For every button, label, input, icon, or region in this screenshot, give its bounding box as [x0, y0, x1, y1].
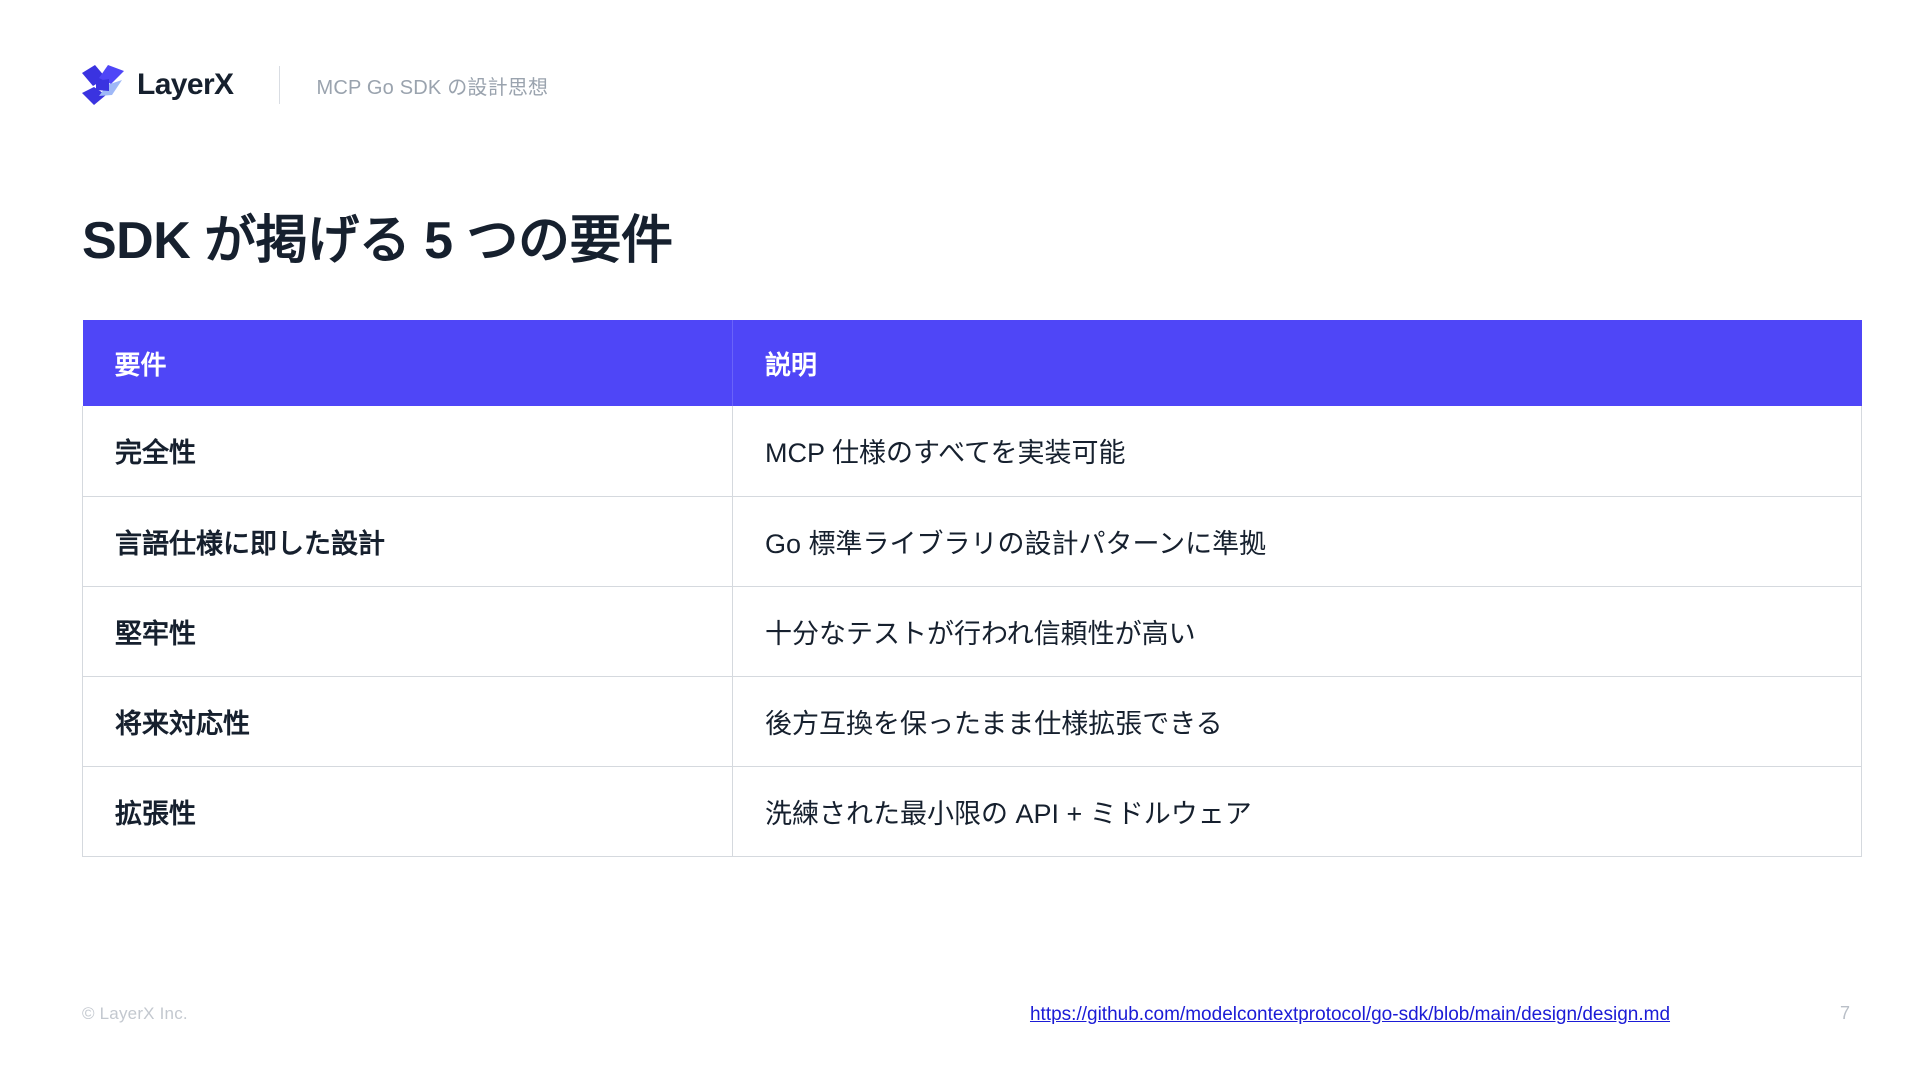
table-row: 将来対応性 後方互換を保ったまま仕様拡張できる — [83, 676, 1862, 766]
requirements-table: 要件 説明 完全性 MCP 仕様のすべてを実装可能 言語仕様に即した設計 Go … — [82, 320, 1862, 857]
requirements-table-wrapper: 要件 説明 完全性 MCP 仕様のすべてを実装可能 言語仕様に即した設計 Go … — [82, 320, 1862, 857]
table-header-row: 要件 説明 — [83, 320, 1862, 406]
cell-description: MCP 仕様のすべてを実装可能 — [733, 406, 1862, 496]
footer-copyright: © LayerX Inc. — [82, 1004, 188, 1024]
table-row: 言語仕様に即した設計 Go 標準ライブラリの設計パターンに準拠 — [83, 496, 1862, 586]
column-header-requirement: 要件 — [83, 320, 733, 406]
brand-wordmark: LayerX — [137, 70, 233, 100]
cell-requirement: 拡張性 — [83, 766, 733, 856]
footer-source-link[interactable]: https://github.com/modelcontextprotocol/… — [1030, 1004, 1670, 1026]
brand-lockup: LayerX — [82, 65, 233, 105]
header-divider — [279, 66, 280, 104]
table-head: 要件 説明 — [83, 320, 1862, 406]
table-row: 拡張性 洗練された最小限の API + ミドルウェア — [83, 766, 1862, 856]
page-title: SDK が掲げる 5 つの要件 — [82, 198, 673, 273]
cell-requirement: 完全性 — [83, 406, 733, 496]
cell-requirement: 堅牢性 — [83, 586, 733, 676]
slide-header: LayerX MCP Go SDK の設計思想 — [82, 60, 548, 110]
cell-description: 後方互換を保ったまま仕様拡張できる — [733, 676, 1862, 766]
header-subtitle: MCP Go SDK の設計思想 — [316, 71, 548, 100]
slide: LayerX MCP Go SDK の設計思想 SDK が掲げる 5 つの要件 … — [0, 0, 1920, 1080]
cell-requirement: 将来対応性 — [83, 676, 733, 766]
page-number: 7 — [1840, 1003, 1850, 1024]
table-row: 完全性 MCP 仕様のすべてを実装可能 — [83, 406, 1862, 496]
column-header-description: 説明 — [733, 320, 1862, 406]
cell-description: Go 標準ライブラリの設計パターンに準拠 — [733, 496, 1862, 586]
layerx-x-mark-icon — [82, 65, 124, 105]
table-row: 堅牢性 十分なテストが行われ信頼性が高い — [83, 586, 1862, 676]
cell-description: 十分なテストが行われ信頼性が高い — [733, 586, 1862, 676]
table-body: 完全性 MCP 仕様のすべてを実装可能 言語仕様に即した設計 Go 標準ライブラ… — [83, 406, 1862, 856]
cell-requirement: 言語仕様に即した設計 — [83, 496, 733, 586]
cell-description: 洗練された最小限の API + ミドルウェア — [733, 766, 1862, 856]
